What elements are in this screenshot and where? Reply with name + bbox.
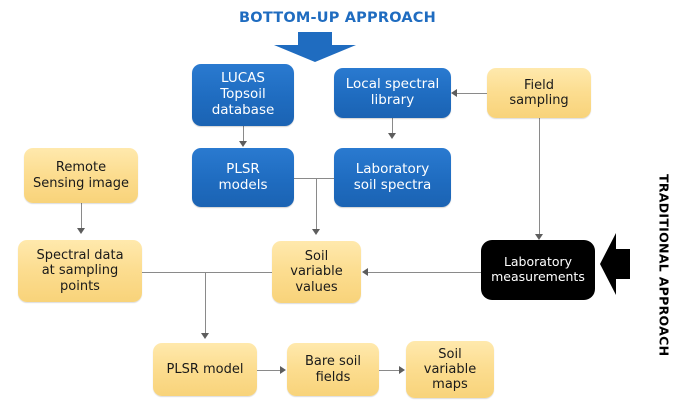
traditional-approach-label: TRADITIONAL APPROACH — [655, 175, 673, 355]
edge-plsr-models-to-junction — [294, 178, 334, 179]
edge-field-to-lab-measurements — [539, 118, 540, 235]
edge-field-to-local-library — [457, 93, 487, 94]
edge-spectral-to-plsr-model-junction — [142, 272, 272, 273]
edge-junction-to-soil-values — [316, 178, 317, 230]
node-laboratory-measurements[interactable]: Laboratory measurements — [481, 240, 595, 300]
edge-field-to-local-library-arrowhead — [451, 89, 457, 97]
node-field-sampling[interactable]: Field sampling — [487, 68, 591, 118]
node-laboratory-soil-spectra[interactable]: Laboratory soil spectra — [334, 148, 451, 207]
node-remote-sensing-image[interactable]: Remote Sensing image — [24, 148, 138, 203]
edge-remote-to-spectral — [81, 203, 82, 229]
bottom-up-approach-label: BOTTOM-UP APPROACH — [0, 10, 675, 26]
node-soil-variable-values[interactable]: Soil variable values — [272, 241, 361, 303]
node-bare-soil-fields[interactable]: Bare soil fields — [287, 343, 379, 396]
edge-bare-soil-to-soil-maps-arrowhead — [399, 366, 405, 374]
edge-local-library-to-lab-spectra — [392, 118, 393, 134]
edge-junction-to-plsr-model-arrowhead — [201, 333, 209, 339]
edge-lucas-to-plsr-models-arrowhead — [239, 141, 247, 147]
node-plsr-models[interactable]: PLSR models — [192, 148, 294, 207]
edge-bare-soil-to-soil-maps — [379, 370, 401, 371]
edge-junction-to-plsr-model — [205, 272, 206, 334]
edge-plsr-model-to-bare-soil-arrowhead — [280, 366, 286, 374]
edge-lab-measurements-to-soil-values-arrowhead — [362, 268, 368, 276]
edge-plsr-model-to-bare-soil — [257, 370, 281, 371]
node-local-spectral-library[interactable]: Local spectral library — [334, 68, 451, 118]
edge-lab-measurements-to-soil-values — [368, 272, 481, 273]
down-block-arrow-icon — [274, 32, 356, 62]
node-lucas-topsoil-database[interactable]: LUCAS Topsoil database — [192, 64, 294, 126]
node-soil-variable-maps[interactable]: Soil variable maps — [406, 341, 494, 398]
node-spectral-data-at-sampling-points[interactable]: Spectral data at sampling points — [18, 240, 142, 302]
diagram-canvas: BOTTOM-UP APPROACH LUCAS Topsoil databas… — [0, 0, 675, 420]
edge-junction-to-soil-values-arrowhead — [312, 229, 320, 235]
edge-local-library-to-lab-spectra-arrowhead — [388, 133, 396, 139]
edge-lucas-to-plsr-models — [243, 126, 244, 142]
node-plsr-model[interactable]: PLSR model — [153, 343, 257, 396]
edge-remote-to-spectral-arrowhead — [77, 228, 85, 234]
left-block-arrow-icon — [600, 233, 630, 295]
